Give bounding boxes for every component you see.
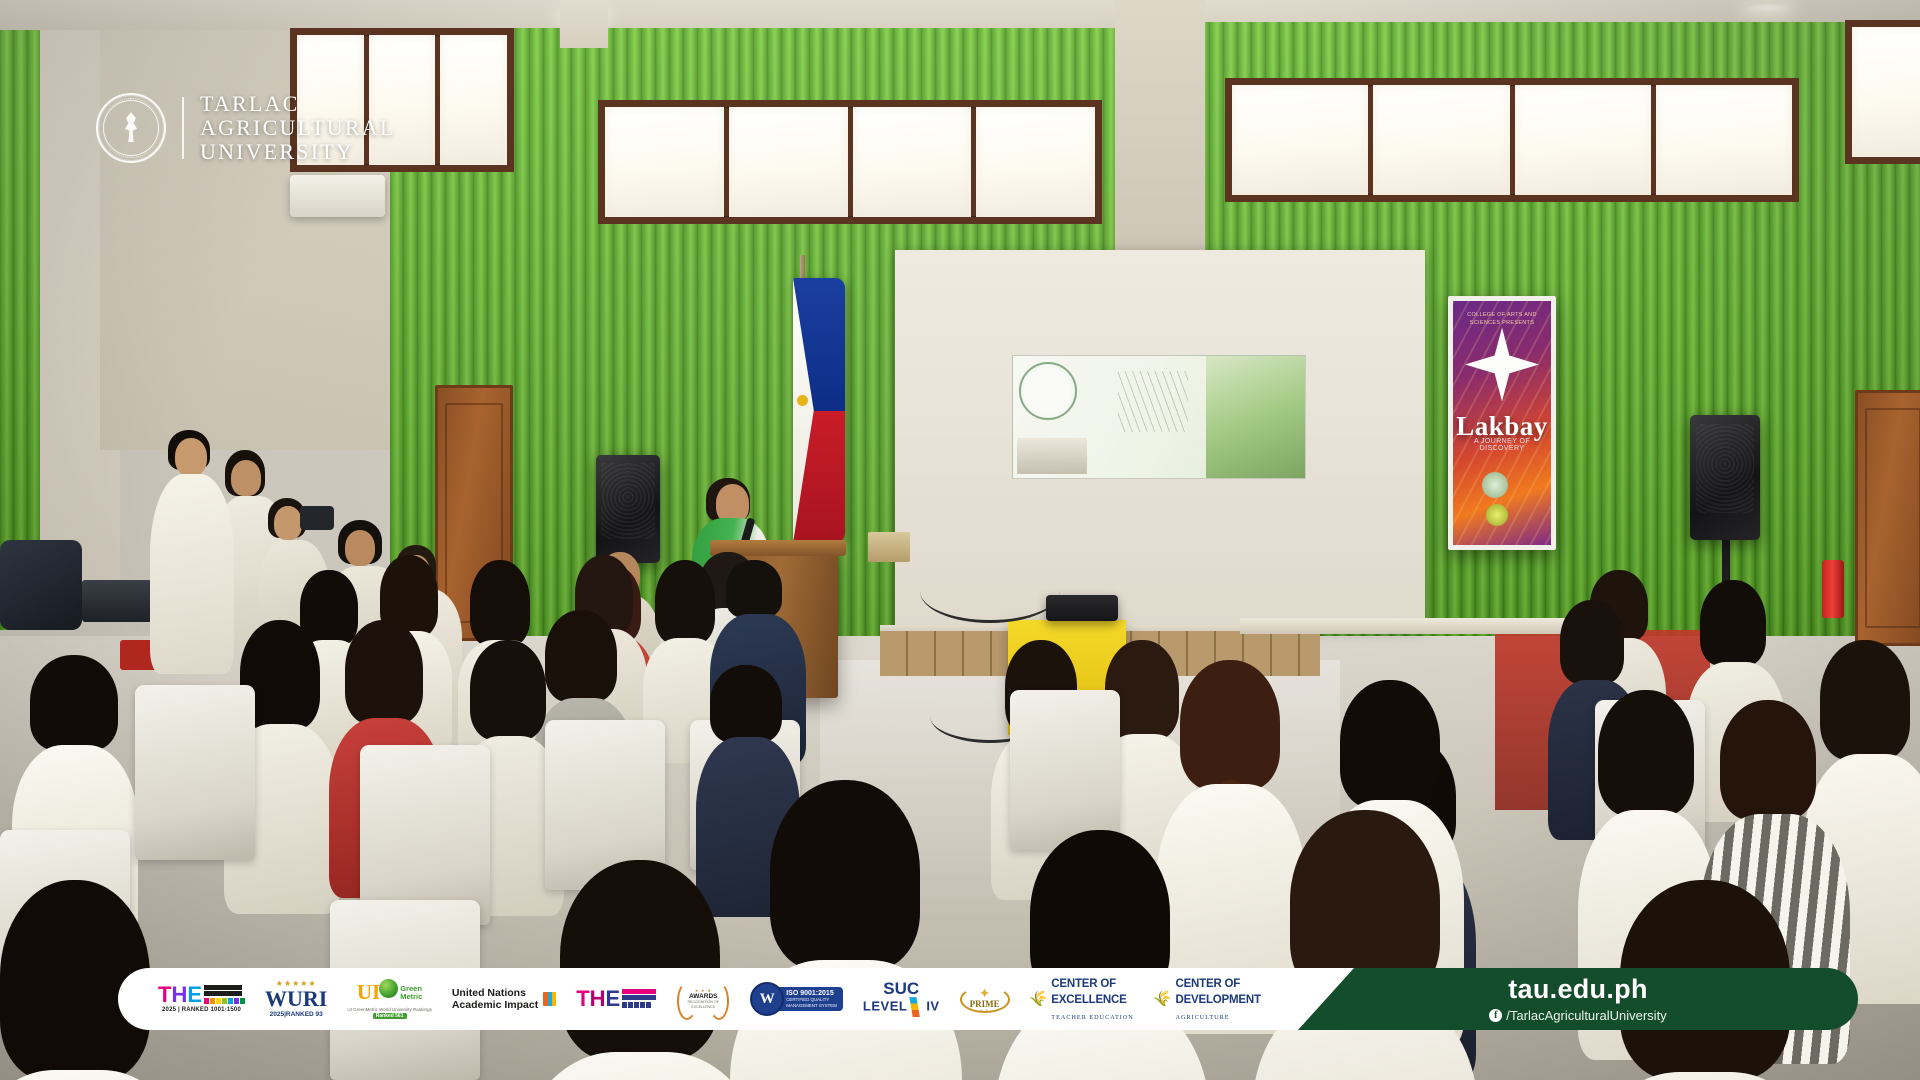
pa-speaker-right [1690, 415, 1760, 540]
banner-seal-icon [1486, 504, 1508, 526]
website-panel[interactable]: tau.edu.ph f /TarlacAgriculturalUniversi… [1298, 968, 1858, 1030]
event-banner: COLLEGE OF ARTS AND SCIENCES PRESENTS La… [1448, 296, 1556, 550]
website-url[interactable]: tau.edu.ph [1508, 976, 1648, 1003]
unai-line-1: United Nations [452, 987, 538, 999]
window-bank-center [598, 100, 1102, 224]
pa-speaker-left [596, 455, 660, 563]
window-pane [1515, 85, 1651, 195]
greenmetric-text: Green Metric [400, 985, 422, 1001]
cod-line-3: AGRICULTURE [1175, 1014, 1229, 1021]
camera-icon [300, 506, 334, 530]
ui-greenmetric-sub: UI GreenMetric World University Rankings [347, 1007, 431, 1012]
wheat-sprig-icon: 🌾 [1152, 989, 1175, 1010]
iso-text-bar: ISO 9001:2015 CERTIFIED QUALITY MANAGEME… [776, 987, 843, 1012]
unai-line-2: Academic Impact [452, 999, 538, 1011]
coe-line-2: EXCELLENCE [1051, 994, 1126, 1006]
laurel-wreath-icon: ★ ★ ★ AWARDS RECOGNITION OF EXCELLENCE [676, 980, 730, 1018]
brand-line-1: TARLAC [200, 92, 395, 116]
coe-line-3: TEACHER EDUCATION [1051, 1014, 1133, 1021]
window-bank-right [1225, 78, 1799, 202]
facebook-handle[interactable]: /TarlacAgriculturalUniversity [1506, 1008, 1666, 1023]
door-right[interactable] [1855, 390, 1920, 646]
the-blocks-icon [204, 985, 245, 1005]
iso-line-3: MANAGEMENT SYSTEM [786, 1003, 837, 1009]
logo-wuri: ★★★★★ WURI 2025|RANKED 93 [265, 980, 327, 1018]
facebook-icon: f [1489, 1009, 1502, 1022]
laurel-name: AWARDS [676, 993, 730, 1000]
the-impact-blocks-icon [622, 989, 656, 1009]
photo-canvas: COLLEGE OF ARTS AND SCIENCES PRESENTS La… [0, 0, 1920, 1080]
cable-run [920, 560, 1060, 623]
cod-line-2: DEVELOPMENT [1175, 994, 1260, 1006]
window-pane [853, 107, 972, 217]
suc-level-label: LEVEL [863, 999, 907, 1014]
window-pane [729, 107, 848, 217]
brand-watermark: TARLAC AGRICULTURAL UNIVERSITY [96, 92, 395, 163]
unai-book-icon [543, 992, 556, 1006]
the-ranking-caption: 2025 | RANKED 1001-1500 [162, 1007, 241, 1013]
window-pane [976, 107, 1095, 217]
suc-level-value: IV [926, 999, 939, 1014]
logo-suc-level: SUC LEVELIV [863, 981, 940, 1017]
window-pane [1852, 27, 1920, 157]
ceiling-light-icon [1745, 2, 1791, 14]
brand-line-3: UNIVERSITY [200, 140, 395, 164]
logo-the-impact-rankings: THE [576, 989, 656, 1009]
iso-seal-icon: W [750, 982, 784, 1016]
logo-iso-9001: W ISO 9001:2015 CERTIFIED QUALITY MANAGE… [750, 982, 843, 1016]
banner-subtitle: A JOURNEY OF DISCOVERY [1453, 438, 1551, 452]
suc-word: SUC [863, 981, 940, 997]
bottom-branding-bar: THE 2025 | RANKED 1001-1500 [0, 968, 1920, 1030]
laurel-sub: RECOGNITION OF EXCELLENCE [676, 1000, 730, 1010]
table-edge-right [1240, 618, 1570, 634]
tau-seal-icon [96, 93, 166, 163]
wuri-caption: 2025|RANKED 93 [270, 1011, 323, 1018]
cod-words: CENTER OF DEVELOPMENT AGRICULTURE [1175, 975, 1260, 1024]
unai-mark: United Nations Academic Impact [452, 987, 556, 1011]
logo-un-academic-impact: United Nations Academic Impact [452, 987, 556, 1011]
globe-icon [379, 979, 398, 998]
prime-wreath-icon [960, 986, 1010, 1013]
equipment-bag [0, 540, 82, 630]
slide-foliage-photo [1206, 356, 1305, 478]
cod-mark: 🌾 CENTER OF DEVELOPMENT AGRICULTURE [1154, 975, 1261, 1024]
brand-wordmark: TARLAC AGRICULTURAL UNIVERSITY [200, 92, 395, 163]
monobloc-chair [135, 685, 255, 860]
prime-mark: ✦ PRIME H E [960, 986, 1010, 1013]
monobloc-chair [360, 745, 490, 925]
coe-mark: 🌾 CENTER OF EXCELLENCE TEACHER EDUCATION [1030, 975, 1134, 1024]
window-pane [440, 35, 507, 165]
slide-text-lines [1118, 371, 1188, 432]
window-pane [605, 107, 724, 217]
window-pane [1232, 85, 1368, 195]
suc-mark: SUC LEVELIV [863, 981, 940, 1017]
the-logo-icon: THE [158, 985, 245, 1005]
laptop [82, 580, 152, 622]
slide-seal-icon [1019, 362, 1077, 420]
logo-the-world-university-rankings: THE 2025 | RANKED 1001-1500 [158, 985, 245, 1013]
banner-emblem-icon [1482, 472, 1508, 498]
cod-line-1: CENTER OF [1175, 978, 1240, 990]
the-impact-wordmark: THE [576, 990, 620, 1009]
philippine-flag [793, 278, 845, 543]
suc-level-flag-icon [909, 997, 926, 1017]
the-wordmark: THE [158, 986, 202, 1005]
monobloc-chair [1010, 690, 1120, 850]
papers-on-stage [868, 532, 910, 562]
iso-mark: W ISO 9001:2015 CERTIFIED QUALITY MANAGE… [750, 982, 843, 1016]
wheat-sprig-icon: 🌾 [1027, 989, 1050, 1010]
logo-center-of-development: 🌾 CENTER OF DEVELOPMENT AGRICULTURE [1154, 975, 1261, 1024]
laurel-inner: ★ ★ ★ AWARDS RECOGNITION OF EXCELLENCE [676, 988, 730, 1010]
wuri-wordmark: WURI [265, 988, 327, 1010]
flag-sun-icon [797, 395, 808, 406]
logo-award-laurel: ★ ★ ★ AWARDS RECOGNITION OF EXCELLENCE [676, 980, 730, 1018]
the-impact-logo-icon: THE [576, 989, 656, 1009]
air-conditioner [290, 175, 385, 217]
projected-slide [1012, 355, 1306, 479]
ui-greenmetric-rank: Ranked 561 [373, 1013, 407, 1019]
banner-top-text: COLLEGE OF ARTS AND SCIENCES PRESENTS [1453, 311, 1551, 328]
fire-extinguisher [1822, 560, 1844, 618]
ui-letters: UI [357, 982, 380, 1003]
logo-prime-he: ✦ PRIME H E [960, 986, 1010, 1013]
coe-words: CENTER OF EXCELLENCE TEACHER EDUCATION [1051, 975, 1133, 1024]
brand-line-2: AGRICULTURAL [200, 116, 395, 140]
slide-thumbnail-photo [1017, 438, 1087, 474]
ceiling-column [1115, 0, 1205, 270]
projector-device [1046, 595, 1118, 621]
ui-greenmetric-mark: UI Green Metric [357, 979, 422, 1006]
unai-text: United Nations Academic Impact [452, 987, 538, 1011]
accreditation-strip: THE 2025 | RANKED 1001-1500 [118, 968, 1438, 1030]
iso-standard: ISO 9001:2015 [786, 990, 837, 998]
window-pane [1373, 85, 1509, 195]
ceiling-beam [560, 0, 608, 48]
logo-ui-greenmetric: UI Green Metric UI GreenMetric World Uni… [347, 979, 431, 1019]
brand-divider [182, 97, 184, 159]
social-handle-row[interactable]: f /TarlacAgriculturalUniversity [1489, 1008, 1666, 1023]
window-pane [1656, 85, 1792, 195]
window-bank-far-right [1845, 20, 1920, 164]
accreditation-logos: THE 2025 | RANKED 1001-1500 [158, 975, 1261, 1024]
coe-line-1: CENTER OF [1051, 978, 1116, 990]
logo-center-of-excellence: 🌾 CENTER OF EXCELLENCE TEACHER EDUCATION [1030, 975, 1134, 1024]
suc-level-row: LEVELIV [863, 997, 940, 1017]
